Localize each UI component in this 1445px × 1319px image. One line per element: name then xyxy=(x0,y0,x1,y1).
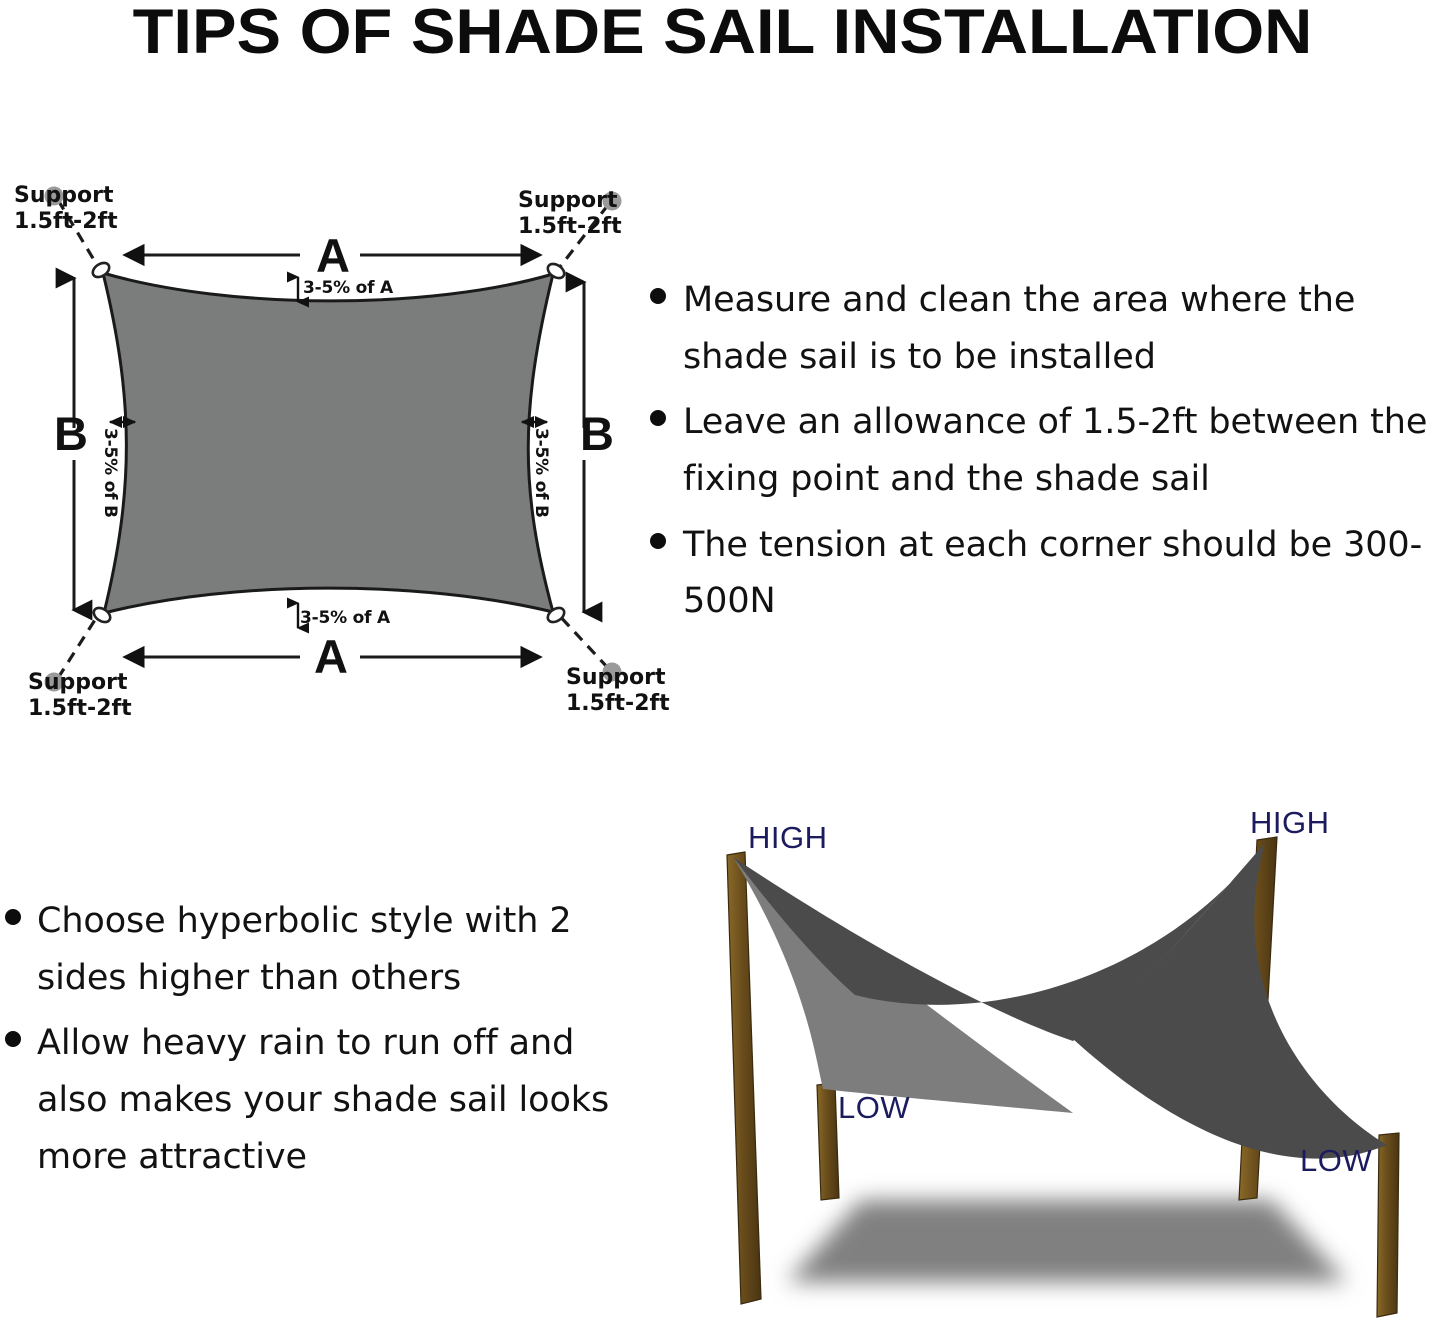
support-label-top-left: Support 1.5ft-2ft xyxy=(14,183,118,234)
shade-sail-fabric xyxy=(103,273,553,613)
bullet-dot-icon xyxy=(5,1031,21,1047)
tip-text: Allow heavy rain to run off and also mak… xyxy=(37,1015,635,1185)
support-label-top-right: Support 1.5ft-2ft xyxy=(518,188,622,239)
support-label-line1: Support xyxy=(14,183,118,209)
label-low-left: LOW xyxy=(838,1090,910,1126)
label-high-right: HIGH xyxy=(1250,805,1330,841)
tip-text: Leave an allowance of 1.5-2ft between th… xyxy=(683,394,1445,507)
list-item: Choose hyperbolic style with 2 sides hig… xyxy=(5,893,635,1006)
list-item: Measure and clean the area where the sha… xyxy=(650,272,1445,385)
support-label-line2: 1.5ft-2ft xyxy=(28,696,132,722)
list-item: Allow heavy rain to run off and also mak… xyxy=(5,1015,635,1185)
support-label-line2: 1.5ft-2ft xyxy=(566,691,670,717)
support-label-bottom-left: Support 1.5ft-2ft xyxy=(28,670,132,721)
tip-text: Choose hyperbolic style with 2 sides hig… xyxy=(37,893,635,1006)
support-label-line2: 1.5ft-2ft xyxy=(518,214,622,240)
label-high-left: HIGH xyxy=(748,820,828,856)
list-item: Leave an allowance of 1.5-2ft between th… xyxy=(650,394,1445,507)
dimension-label-width-bottom: A xyxy=(314,633,348,680)
installation-tips-upper-right: Measure and clean the area where the sha… xyxy=(650,272,1445,639)
installation-tips-lower-left: Choose hyperbolic style with 2 sides hig… xyxy=(5,893,635,1194)
support-line-bottom-left xyxy=(58,612,100,678)
label-low-right: LOW xyxy=(1300,1143,1372,1179)
curvature-note-left: 3-5% of B xyxy=(100,428,120,518)
ground-shadow xyxy=(787,1200,1347,1282)
dimension-label-height-right: B xyxy=(580,410,614,457)
curvature-note-top: 3-5% of A xyxy=(303,278,393,298)
list-item: The tension at each corner should be 300… xyxy=(650,517,1445,630)
support-label-line2: 1.5ft-2ft xyxy=(14,209,118,235)
tip-text: Measure and clean the area where the sha… xyxy=(683,272,1445,385)
post-low-left xyxy=(817,1083,839,1200)
infographic-page: TIPS OF SHADE SAIL INSTALLATION xyxy=(0,0,1445,1319)
dimension-label-height-left: B xyxy=(54,410,88,457)
support-label-line1: Support xyxy=(28,670,132,696)
support-label-bottom-right: Support 1.5ft-2ft xyxy=(566,665,670,716)
post-high-left xyxy=(727,852,761,1304)
bullet-dot-icon xyxy=(5,909,21,925)
bullet-dot-icon xyxy=(650,410,666,426)
hyperbolic-sail-svg xyxy=(665,795,1445,1319)
dimension-label-width-top: A xyxy=(316,232,350,279)
support-line-bottom-right xyxy=(556,612,608,668)
page-title: TIPS OF SHADE SAIL INSTALLATION xyxy=(0,0,1445,68)
curvature-note-bottom: 3-5% of A xyxy=(300,608,390,628)
support-label-line1: Support xyxy=(518,188,622,214)
tip-text: The tension at each corner should be 300… xyxy=(683,517,1445,630)
bullet-dot-icon xyxy=(650,288,666,304)
support-label-line1: Support xyxy=(566,665,670,691)
post-low-right xyxy=(1377,1133,1399,1317)
curvature-note-right: 3-5% of B xyxy=(531,428,551,518)
bullet-dot-icon xyxy=(650,533,666,549)
